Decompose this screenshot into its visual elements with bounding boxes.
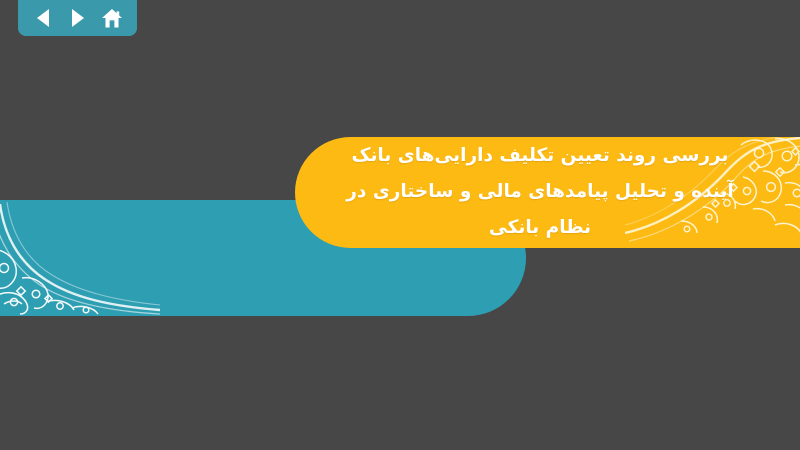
previous-slide-button[interactable] (28, 4, 58, 32)
slide-canvas: بررسی روند تعیین تکلیف دارایی‌های بانک آ… (0, 0, 800, 450)
home-slide-button[interactable] (97, 4, 127, 32)
next-slide-button[interactable] (63, 4, 93, 32)
home-icon (101, 8, 123, 29)
title-line-1: بررسی روند تعیین تکلیف دارایی‌های بانک (352, 138, 729, 174)
triangle-left-icon (35, 8, 52, 28)
title-line-3: نظام بانکی (489, 210, 591, 246)
arabesque-corner-ornament-teal (0, 200, 160, 316)
slide-navigation-bar (18, 0, 137, 36)
triangle-right-icon (69, 8, 86, 28)
title-line-2: آینده و تحلیل پیامدهای مالی و ساختاری در (346, 174, 734, 210)
slide-title: بررسی روند تعیین تکلیف دارایی‌های بانک آ… (300, 138, 780, 246)
